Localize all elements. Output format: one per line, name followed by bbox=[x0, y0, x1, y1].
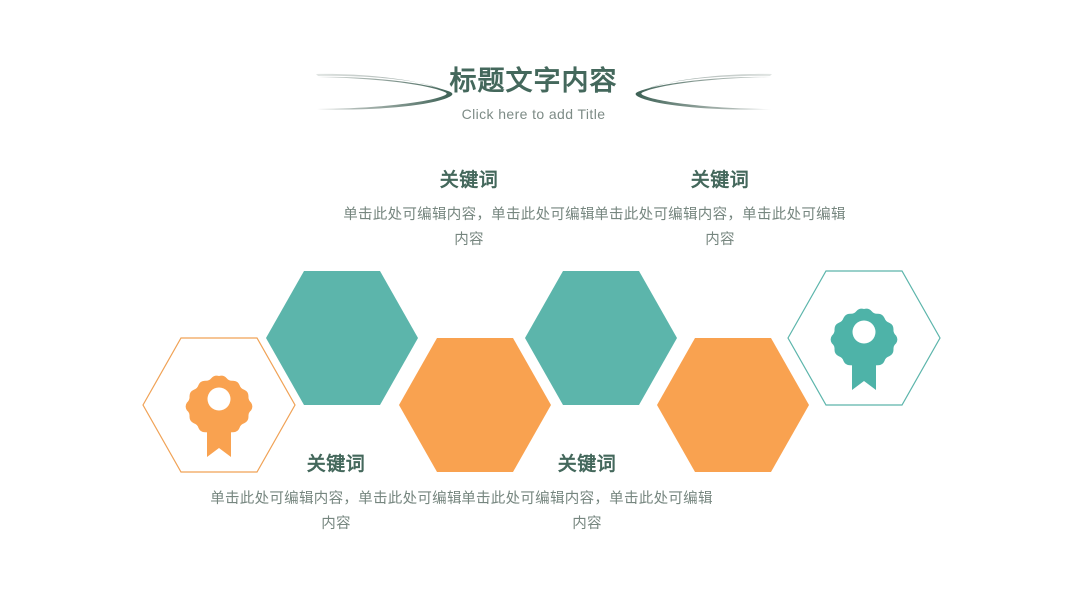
award-ribbon-icon bbox=[831, 309, 897, 390]
award-ribbon-icon bbox=[186, 376, 252, 457]
textblock-heading: 关键词 bbox=[590, 168, 850, 194]
textblock-bottom-2: 关键词 单击此处可编辑内容，单击此处可编辑内容 bbox=[457, 452, 717, 537]
textblock-body: 单击此处可编辑内容，单击此处可编辑内容 bbox=[339, 203, 599, 253]
textblock-body: 单击此处可编辑内容，单击此处可编辑内容 bbox=[457, 487, 717, 537]
hexagon-teal-2[interactable] bbox=[525, 271, 677, 405]
textblock-heading: 关键词 bbox=[339, 168, 599, 194]
textblock-top-1: 关键词 单击此处可编辑内容，单击此处可编辑内容 bbox=[339, 168, 599, 253]
textblock-top-2: 关键词 单击此处可编辑内容，单击此处可编辑内容 bbox=[590, 168, 850, 253]
textblock-bottom-1: 关键词 单击此处可编辑内容，单击此处可编辑内容 bbox=[206, 452, 466, 537]
textblock-heading: 关键词 bbox=[206, 452, 466, 478]
textblock-heading: 关键词 bbox=[457, 452, 717, 478]
hexagon-right-outline[interactable] bbox=[788, 271, 940, 405]
textblock-body: 单击此处可编辑内容，单击此处可编辑内容 bbox=[206, 487, 466, 537]
textblock-body: 单击此处可编辑内容，单击此处可编辑内容 bbox=[590, 203, 850, 253]
hexagon-teal-1[interactable] bbox=[266, 271, 418, 405]
